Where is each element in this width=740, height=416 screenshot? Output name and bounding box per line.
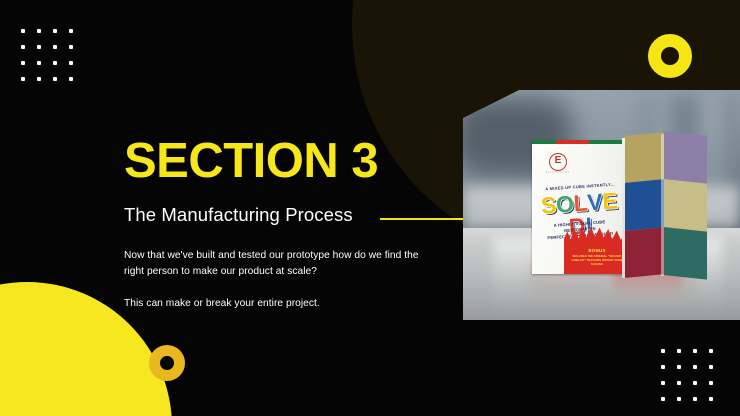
grid-dot	[661, 397, 665, 401]
grid-dot	[69, 29, 73, 33]
grid-dot	[693, 397, 697, 401]
cube-face	[663, 227, 707, 280]
grid-dot	[69, 61, 73, 65]
grid-dot	[21, 29, 25, 33]
body-paragraph-1: Now that we've built and tested our prot…	[124, 248, 424, 281]
headline-letter: E	[602, 189, 619, 213]
grid-dot	[677, 365, 681, 369]
box-edge-near	[622, 138, 625, 278]
cube-faces-side-column	[624, 132, 664, 278]
grid-dot	[693, 349, 697, 353]
grid-dot	[69, 77, 73, 81]
grid-dot	[677, 349, 681, 353]
dot-grid-bottom-right	[661, 349, 713, 401]
cube-faces-right-column	[663, 131, 707, 280]
slide-canvas: SECTION 3 The Manufacturing Process Now …	[0, 0, 740, 416]
grid-dot	[677, 397, 681, 401]
cube-face	[663, 179, 707, 232]
cube-face	[624, 179, 664, 230]
product-box: E ELLUSIONIST A MIXED UP CUBE INSTANTLY.…	[532, 136, 707, 276]
grid-dot	[37, 45, 41, 49]
grid-dot	[709, 397, 713, 401]
grid-dot	[37, 29, 41, 33]
text-column: SECTION 3 The Manufacturing Process Now …	[124, 136, 424, 313]
brand-name: ELLUSIONIST	[541, 171, 575, 174]
grid-dot	[53, 61, 57, 65]
grid-dot	[21, 61, 25, 65]
grid-dot	[21, 45, 25, 49]
grid-dot	[53, 77, 57, 81]
cube-face	[624, 132, 664, 183]
body-copy: Now that we've built and tested our prot…	[124, 248, 424, 313]
grid-dot	[677, 381, 681, 385]
box-top-stripe	[532, 140, 624, 144]
grid-dot	[661, 349, 665, 353]
headline-letter: S	[540, 194, 557, 218]
grid-dot	[37, 77, 41, 81]
page-title: SECTION 3	[124, 136, 424, 187]
subtitle-row: The Manufacturing Process	[124, 204, 424, 226]
cube-face	[663, 131, 707, 184]
dot-grid-top-left	[21, 29, 73, 81]
bonus-subtitle: INCLUDES THE ORIGINAL "SOLVED! CUBE KIT"…	[570, 255, 624, 267]
product-photo: E ELLUSIONIST A MIXED UP CUBE INSTANTLY.…	[463, 90, 740, 320]
grid-dot	[709, 381, 713, 385]
headline-letter: V	[587, 190, 604, 214]
grid-dot	[709, 365, 713, 369]
brand-logo-icon: E	[549, 153, 567, 171]
grid-dot	[37, 61, 41, 65]
grid-dot	[693, 381, 697, 385]
cube-face	[624, 227, 664, 278]
section-subtitle: The Manufacturing Process	[124, 204, 353, 226]
body-paragraph-2: This can make or break your entire proje…	[124, 296, 424, 313]
amber-ring-decoration	[149, 345, 185, 381]
yellow-ring-decoration	[648, 34, 692, 78]
grid-dot	[53, 29, 57, 33]
grid-dot	[709, 349, 713, 353]
grid-dot	[661, 381, 665, 385]
bonus-title: BONUS	[564, 248, 624, 253]
grid-dot	[661, 365, 665, 369]
grid-dot	[693, 365, 697, 369]
grid-dot	[21, 77, 25, 81]
grid-dot	[53, 45, 57, 49]
box-edge-far	[661, 134, 664, 276]
product-box-front: E ELLUSIONIST A MIXED UP CUBE INSTANTLY.…	[532, 140, 624, 274]
grid-dot	[69, 45, 73, 49]
